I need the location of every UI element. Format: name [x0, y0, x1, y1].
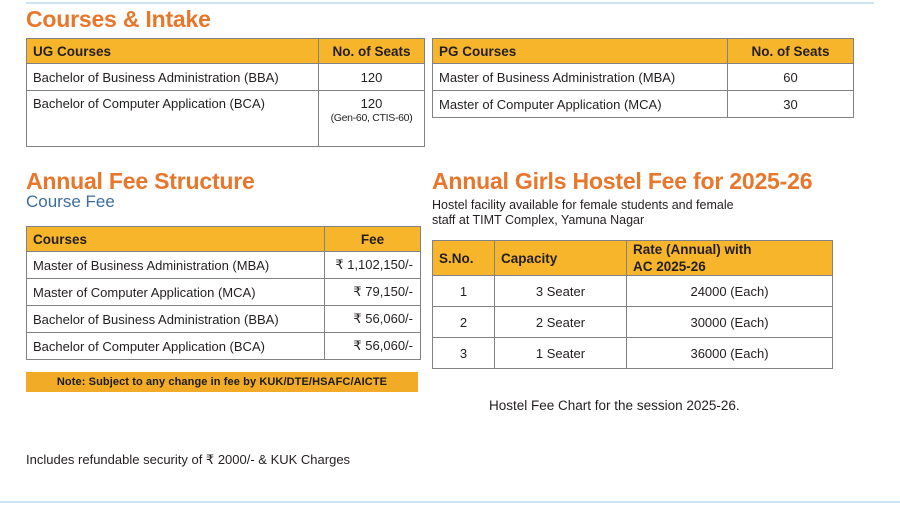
- hostel-fee-title: Annual Girls Hostel Fee for 2025-26: [432, 168, 812, 195]
- pg-course-name: Master of Business Administration (MBA): [433, 64, 728, 91]
- fee-course-name: Bachelor of Business Administration (BBA…: [27, 306, 325, 333]
- table-header-row: Courses Fee: [27, 227, 421, 252]
- table-row: 3 1 Seater 36000 (Each): [433, 338, 833, 369]
- bottom-divider-rule: [0, 501, 900, 503]
- hostel-col-rate-line2: AC 2025-26: [633, 259, 706, 274]
- hostel-description-line1: Hostel facility available for female stu…: [432, 198, 782, 213]
- table-header-row: S.No. Capacity Rate (Annual) with AC 202…: [433, 241, 833, 276]
- pg-col-course: PG Courses: [433, 39, 728, 64]
- hostel-row-rate: 30000 (Each): [627, 307, 833, 338]
- table-header-row: UG Courses No. of Seats: [27, 39, 425, 64]
- hostel-row-sno: 3: [433, 338, 495, 369]
- course-fee-subtitle: Course Fee: [26, 192, 115, 212]
- hostel-row-sno: 2: [433, 307, 495, 338]
- pg-course-seats: 30: [728, 91, 854, 118]
- table-row: Bachelor of Computer Application (BCA) ₹…: [27, 333, 421, 360]
- document-page: Courses & Intake UG Courses No. of Seats…: [0, 0, 900, 505]
- hostel-col-capacity: Capacity: [495, 241, 627, 276]
- table-row: Master of Computer Application (MCA) 30: [433, 91, 854, 118]
- hostel-row-rate: 24000 (Each): [627, 276, 833, 307]
- fee-course-name: Master of Business Administration (MBA): [27, 252, 325, 279]
- fee-course-name: Bachelor of Computer Application (BCA): [27, 333, 325, 360]
- hostel-col-rate-line1: Rate (Annual) with: [633, 242, 752, 257]
- ug-course-seats-cell: 120 (Gen-60, CTIS-60): [319, 91, 425, 147]
- course-fee-table: Courses Fee Master of Business Administr…: [26, 226, 421, 360]
- fee-course-name: Master of Computer Application (MCA): [27, 279, 325, 306]
- fee-course-amount: ₹ 1,102,150/-: [325, 252, 421, 279]
- table-row: Master of Computer Application (MCA) ₹ 7…: [27, 279, 421, 306]
- ug-course-name: Bachelor of Business Administration (BBA…: [27, 64, 319, 91]
- hostel-fee-table: S.No. Capacity Rate (Annual) with AC 202…: [432, 240, 833, 369]
- hostel-col-sno: S.No.: [433, 241, 495, 276]
- fee-structure-title: Annual Fee Structure: [26, 168, 255, 195]
- table-row: Master of Business Administration (MBA) …: [27, 252, 421, 279]
- refundable-security-footnote: Includes refundable security of ₹ 2000/-…: [26, 452, 350, 468]
- table-row: Bachelor of Business Administration (BBA…: [27, 64, 425, 91]
- table-header-row: PG Courses No. of Seats: [433, 39, 854, 64]
- fee-col-courses: Courses: [27, 227, 325, 252]
- hostel-row-rate: 36000 (Each): [627, 338, 833, 369]
- ug-course-seats: 120: [361, 96, 383, 111]
- hostel-col-rate: Rate (Annual) with AC 2025-26: [627, 241, 833, 276]
- ug-col-seats: No. of Seats: [319, 39, 425, 64]
- ug-course-seats: 120: [319, 64, 425, 91]
- table-row: 1 3 Seater 24000 (Each): [433, 276, 833, 307]
- ug-col-course: UG Courses: [27, 39, 319, 64]
- courses-intake-title: Courses & Intake: [26, 6, 211, 33]
- fee-col-fee: Fee: [325, 227, 421, 252]
- pg-course-name: Master of Computer Application (MCA): [433, 91, 728, 118]
- hostel-description: Hostel facility available for female stu…: [432, 198, 782, 228]
- hostel-fee-caption: Hostel Fee Chart for the session 2025-26…: [489, 398, 740, 413]
- hostel-row-capacity: 3 Seater: [495, 276, 627, 307]
- table-row: Bachelor of Business Administration (BBA…: [27, 306, 421, 333]
- fee-change-note: Note: Subject to any change in fee by KU…: [26, 372, 418, 392]
- fee-course-amount: ₹ 79,150/-: [325, 279, 421, 306]
- pg-course-seats: 60: [728, 64, 854, 91]
- ug-course-name: Bachelor of Computer Application (BCA): [27, 91, 319, 147]
- hostel-row-capacity: 2 Seater: [495, 307, 627, 338]
- hostel-row-capacity: 1 Seater: [495, 338, 627, 369]
- table-row: Master of Business Administration (MBA) …: [433, 64, 854, 91]
- hostel-row-sno: 1: [433, 276, 495, 307]
- fee-course-amount: ₹ 56,060/-: [325, 306, 421, 333]
- table-row: 2 2 Seater 30000 (Each): [433, 307, 833, 338]
- pg-col-seats: No. of Seats: [728, 39, 854, 64]
- top-divider-rule: [26, 2, 874, 4]
- table-row: Bachelor of Computer Application (BCA) 1…: [27, 91, 425, 147]
- fee-course-amount: ₹ 56,060/-: [325, 333, 421, 360]
- pg-courses-table: PG Courses No. of Seats Master of Busine…: [432, 38, 854, 118]
- ug-courses-table: UG Courses No. of Seats Bachelor of Busi…: [26, 38, 425, 147]
- ug-course-seats-breakdown: (Gen-60, CTIS-60): [325, 111, 418, 126]
- hostel-description-line2: staff at TIMT Complex, Yamuna Nagar: [432, 213, 782, 228]
